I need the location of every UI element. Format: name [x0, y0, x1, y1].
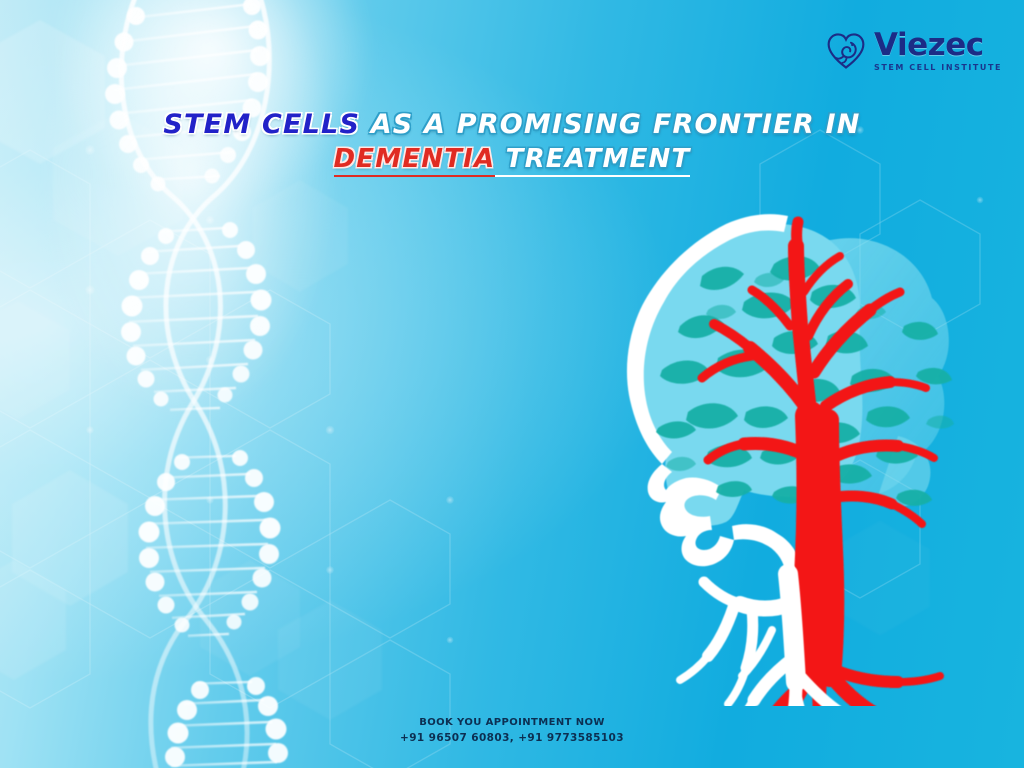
logo-tagline-text: STEM CELL INSTITUTE: [874, 64, 1002, 72]
head-profile-with-tree-illustration: [512, 206, 982, 706]
poster-canvas: Viezec STEM CELL INSTITUTE STEM CELLS AS…: [0, 0, 1024, 768]
headline-stem-cells: STEM CELLS: [163, 109, 360, 140]
headline-line-2: DEMENTIA TREATMENT: [0, 143, 1024, 176]
headline-line-1-rest: AS A PROMISING FRONTIER IN: [360, 109, 860, 140]
footer-phone-text[interactable]: +91 96507 60803, +91 9773585103: [0, 731, 1024, 746]
headline-line-2-rest: TREATMENT: [495, 144, 690, 177]
footer-contact: BOOK YOU APPOINTMENT NOW +91 96507 60803…: [0, 716, 1024, 746]
viezec-logo[interactable]: Viezec STEM CELL INSTITUTE: [826, 30, 1002, 72]
logo-brand-text: Viezec: [874, 30, 984, 61]
embryo-heart-icon: [826, 32, 866, 70]
footer-cta-text: BOOK YOU APPOINTMENT NOW: [0, 716, 1024, 731]
page-title: STEM CELLS AS A PROMISING FRONTIER IN DE…: [0, 108, 1024, 176]
headline-dementia: DEMENTIA: [334, 144, 496, 177]
headline-line-1: STEM CELLS AS A PROMISING FRONTIER IN: [0, 108, 1024, 143]
